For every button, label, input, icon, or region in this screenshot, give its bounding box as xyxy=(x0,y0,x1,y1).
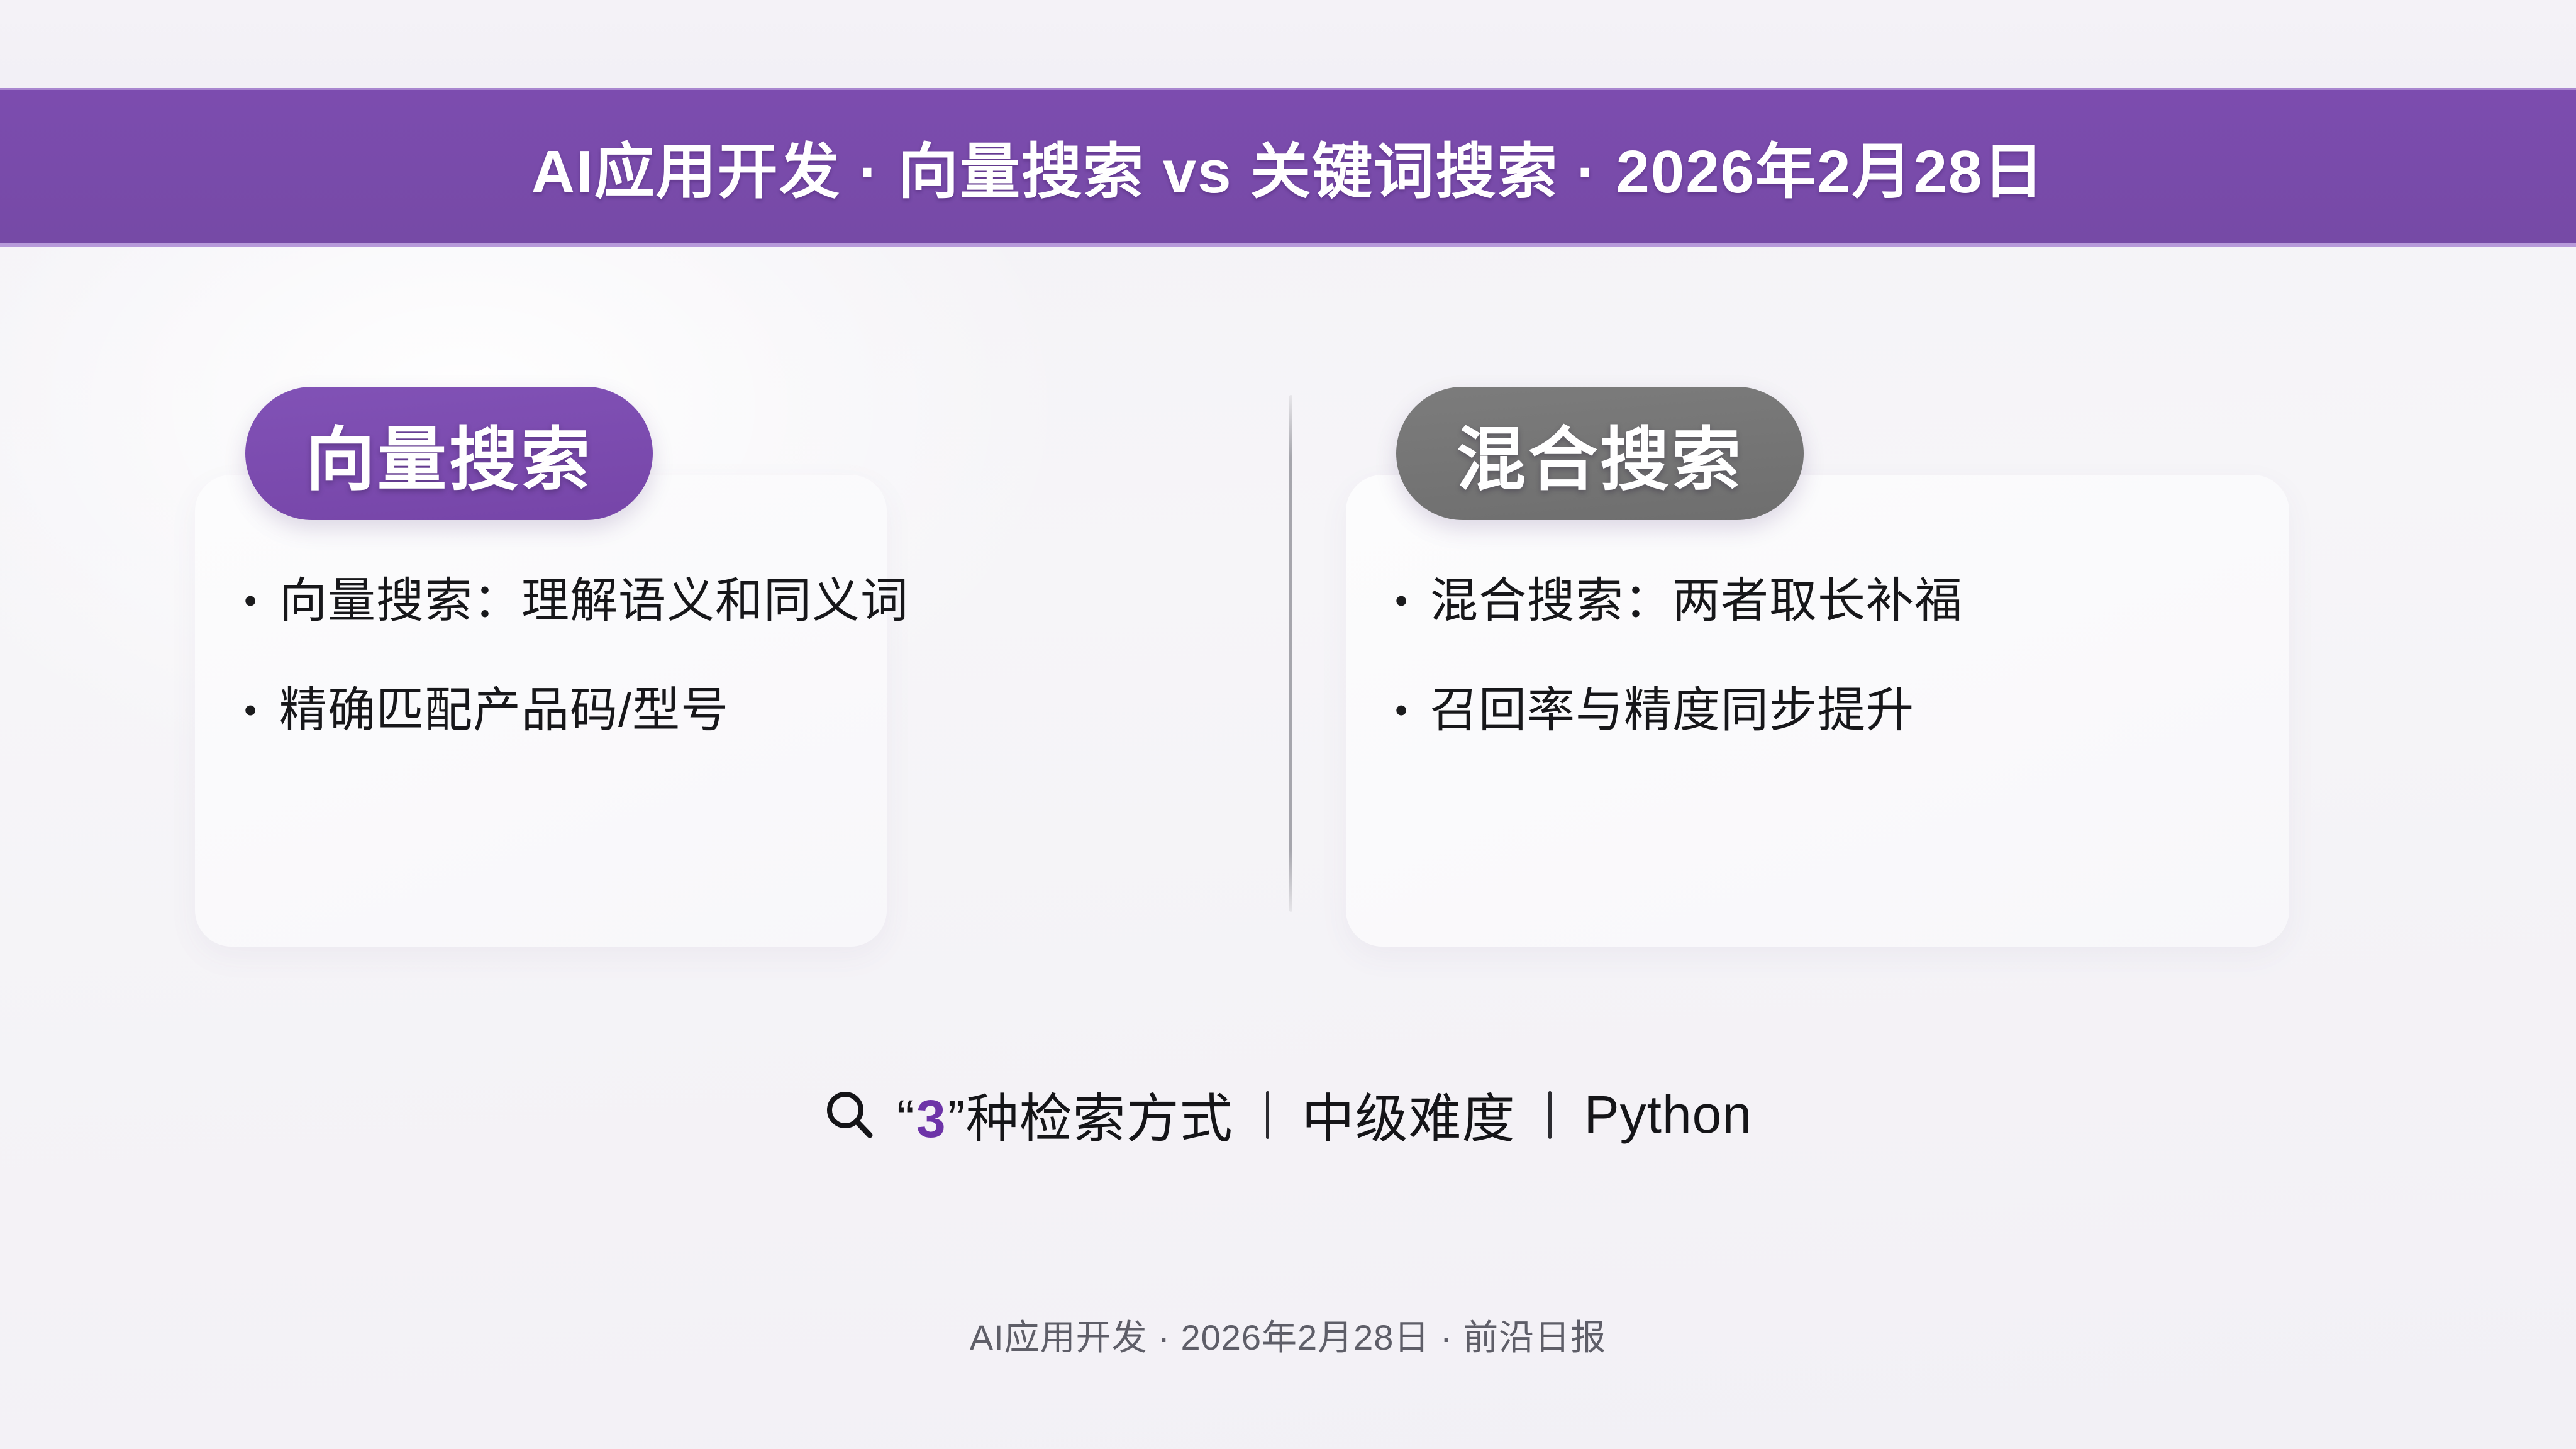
meta-count-quote-open: “ xyxy=(897,1089,915,1150)
meta-count-label: 种检索方式 xyxy=(966,1077,1233,1153)
bullet-marker-icon: • xyxy=(244,575,279,627)
bullet-text: 精确匹配产品码/型号 xyxy=(279,685,729,736)
pill-label: 向量搜索 xyxy=(306,403,592,504)
meta-count-value: 3 xyxy=(915,1089,948,1150)
bullet-marker-icon: • xyxy=(244,685,279,736)
column-vector-search: 向量搜索 • 向量搜索：理解语义和同义词 • 精确匹配产品码/型号 xyxy=(195,387,1233,947)
meta-separator xyxy=(1266,1091,1269,1139)
pill-header-vector-search[interactable]: 向量搜索 xyxy=(245,387,653,520)
pill-label: 混合搜索 xyxy=(1457,403,1743,504)
list-item: • 混合搜索：两者取长补福 xyxy=(1395,575,2346,627)
bullet-marker-icon: • xyxy=(1395,685,1430,736)
bullet-text: 混合搜索：两者取长补福 xyxy=(1430,575,1963,627)
pill-header-hybrid-search[interactable]: 混合搜索 xyxy=(1396,387,1804,520)
meta-language: Python xyxy=(1584,1084,1753,1145)
column-hybrid-search: 混合搜索 • 混合搜索：两者取长补福 • 召回率与精度同步提升 xyxy=(1346,387,2384,947)
meta-row: “3”种检索方式 中级难度 Python xyxy=(0,1077,2576,1153)
column-divider xyxy=(1289,395,1292,912)
list-item: • 召回率与精度同步提升 xyxy=(1395,685,2346,736)
bullet-text: 向量搜索：理解语义和同义词 xyxy=(279,575,909,627)
content-stage: 向量搜索 • 向量搜索：理解语义和同义词 • 精确匹配产品码/型号 xyxy=(0,247,2576,1449)
bullet-marker-icon: • xyxy=(1395,575,1430,627)
list-item: • 精确匹配产品码/型号 xyxy=(244,685,1195,736)
top-strip xyxy=(0,0,2576,88)
search-icon xyxy=(824,1089,875,1141)
bullet-list-vector-search: • 向量搜索：理解语义和同义词 • 精确匹配产品码/型号 xyxy=(244,575,1195,736)
footer: AI应用开发 · 2026年2月28日 · 前沿日报 xyxy=(0,1309,2576,1360)
meta-separator xyxy=(1548,1091,1552,1139)
slide-root: AI应用开发 · 向量搜索 vs 关键词搜索 · 2026年2月28日 向量搜索… xyxy=(0,0,2576,1449)
page-title: AI应用开发 · 向量搜索 vs 关键词搜索 · 2026年2月28日 xyxy=(531,123,2045,210)
bullet-list-hybrid-search: • 混合搜索：两者取长补福 • 召回率与精度同步提升 xyxy=(1395,575,2346,736)
meta-difficulty: 中级难度 xyxy=(1302,1077,1516,1153)
meta-count: “3”种检索方式 xyxy=(897,1077,1233,1153)
header-banner: AI应用开发 · 向量搜索 vs 关键词搜索 · 2026年2月28日 xyxy=(0,88,2576,247)
list-item: • 向量搜索：理解语义和同义词 xyxy=(244,575,1195,627)
footer-text: AI应用开发 · 2026年2月28日 · 前沿日报 xyxy=(970,1318,1606,1357)
bullet-text: 召回率与精度同步提升 xyxy=(1430,685,1914,736)
meta-count-quote-close: ” xyxy=(948,1089,966,1150)
